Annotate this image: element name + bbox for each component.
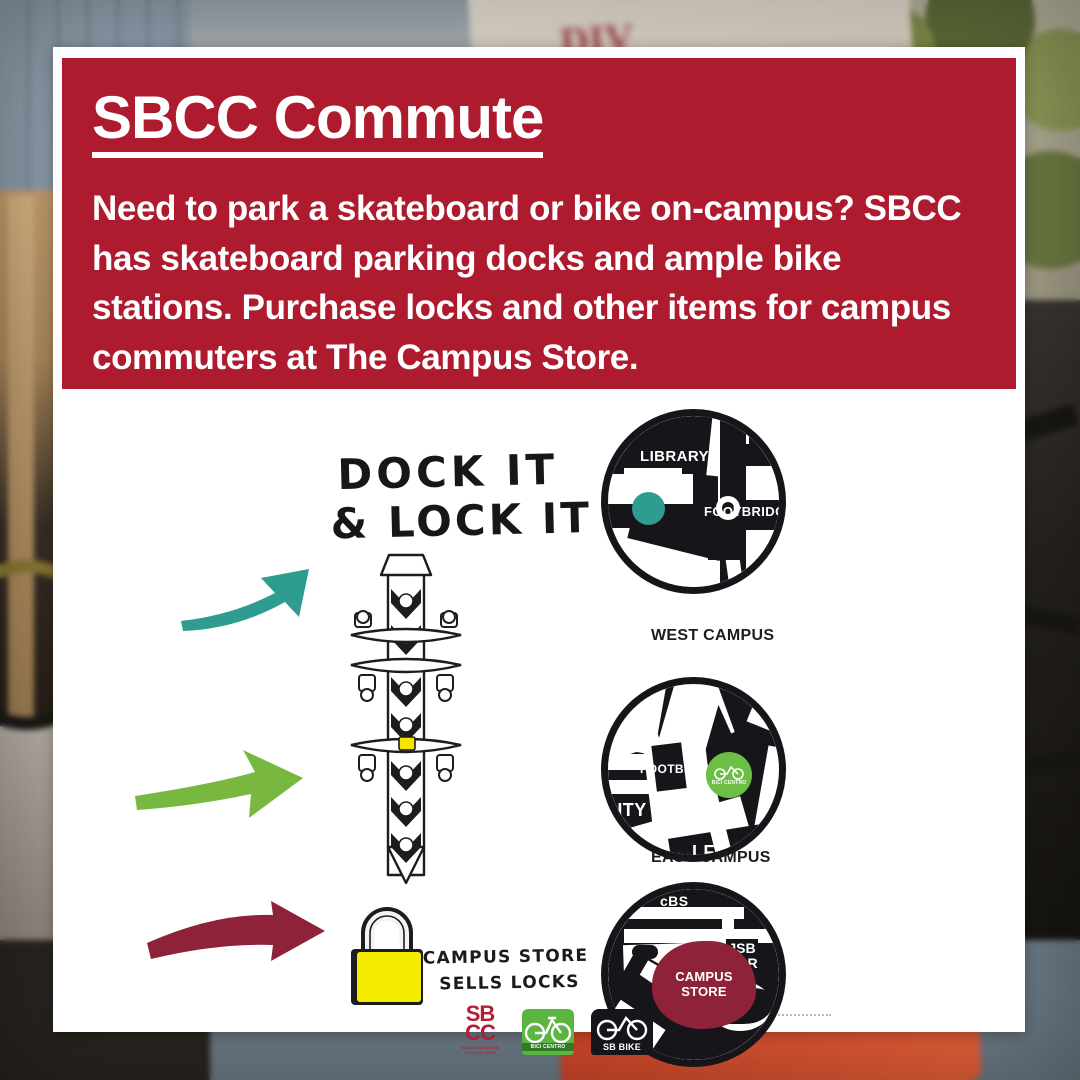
sbcc-logo: SB CC SANTA BARBARA CITY COLLEGE [453, 1004, 507, 1055]
west-campus-caption: WEST CAMPUS [651, 627, 774, 645]
west-campus-map: LIBRARY FOOTBRIDGE [601, 409, 786, 594]
logo-row: SB CC SANTA BARBARA CITY COLLEGE BICI CE… [453, 1004, 655, 1055]
sbbike-bicycle-icon [591, 1012, 653, 1046]
east-campus-label-rity: RITY [608, 800, 647, 821]
east-campus-map: BICI CENTRO FOOTBRIDGE RITY -42 B LFC [601, 677, 786, 862]
dock-it-lock-it-heading: DOCK IT & LOCK IT [337, 444, 599, 548]
east-campus-label-42: -42 [612, 824, 639, 845]
lock-caption: CAMPUS STORE SELLS LOCKS [423, 942, 614, 998]
bicycle-icon [714, 764, 744, 780]
background-door-frame-left [8, 195, 34, 755]
campus-store-blob: CAMPUS STORE [652, 941, 756, 1029]
west-campus-label-library: LIBRARY [640, 448, 709, 465]
bici-centro-logo-label: BICI CENTRO [522, 1043, 574, 1051]
banner: SBCC Commute Need to park a skateboard o… [62, 58, 1016, 389]
arrow-to-east-campus-icon [133, 744, 308, 824]
heading-line-2: & LOCK IT [330, 493, 599, 549]
bici-centro-badge-label: BICI CENTRO [712, 780, 747, 786]
lock-caption-line-1: CAMPUS STORE [423, 946, 589, 969]
west-campus-label-footbridge: FOOTBRIDGE [704, 504, 779, 519]
store-blob-line-2: STORE [681, 984, 727, 999]
sb-bike-logo-label: SB BIKE [591, 1042, 653, 1052]
heading-line-1: DOCK IT [337, 445, 559, 499]
bici-centro-map-badge: BICI CENTRO [706, 752, 752, 798]
sbcc-logo-sub-2: CITY COLLEGE [464, 1050, 496, 1055]
west-campus-marker-dot [632, 492, 665, 525]
sb-bike-logo: SB BIKE [591, 1009, 655, 1055]
arrow-to-west-campus-icon [179, 547, 314, 637]
lock-caption-line-2: SELLS LOCKS [439, 969, 613, 998]
bici-centro-logo: BICI CENTRO [522, 1009, 576, 1055]
campus-store-label-cbs: cBS [660, 893, 688, 909]
skateboard-dock-rack-illustration [341, 547, 471, 892]
east-campus-label-lfc: LFC [692, 842, 728, 855]
arrow-to-campus-store-icon [145, 899, 330, 969]
bici-bicycle-icon [522, 1012, 574, 1046]
poster-card: SBCC Commute Need to park a skateboard o… [53, 47, 1025, 1032]
east-campus-label-b: B [732, 800, 744, 818]
store-blob-line-1: CAMPUS [675, 969, 733, 984]
sbcc-logo-line-2: CC [465, 1020, 495, 1045]
illustration-area: DOCK IT & LOCK IT [53, 399, 1025, 1032]
rack-lock-icon [399, 737, 415, 750]
banner-description: Need to park a skateboard or bike on-cam… [92, 184, 990, 383]
page-title: SBCC Commute [92, 86, 543, 158]
